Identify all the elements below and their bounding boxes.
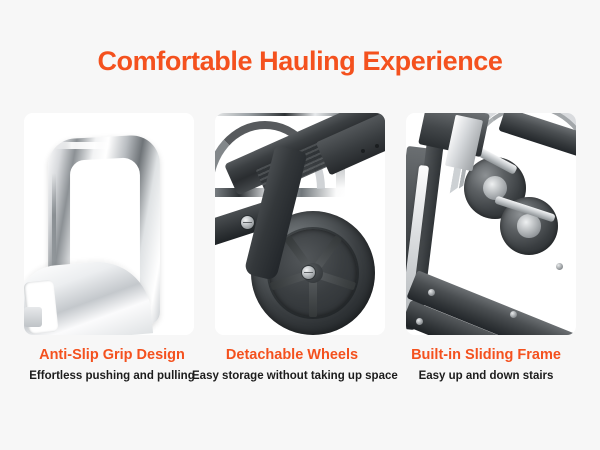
bracket-hole <box>361 149 365 153</box>
bracket-screw <box>241 216 254 229</box>
feature-subtitle: Effortless pushing and pulling <box>24 369 200 384</box>
bracket-hole <box>375 144 379 148</box>
feature-card-anti-slip-grip <box>24 113 194 335</box>
feature-card-sliding-frame <box>406 113 576 335</box>
feature-caption-detachable-wheels: Detachable Wheels Easy storage without t… <box>192 346 392 384</box>
feature-card-detachable-wheels <box>215 113 385 335</box>
page-title: Comfortable Hauling Experience <box>0 44 600 78</box>
hub-screw <box>302 266 315 279</box>
feature-caption-sliding-frame: Built-in Sliding Frame Easy up and down … <box>396 346 576 384</box>
grip-end-tab <box>24 307 42 327</box>
feature-subtitle: Easy up and down stairs <box>396 369 576 384</box>
feature-subtitle: Easy storage without taking up space <box>192 369 392 384</box>
product-photo-sliding-frame <box>406 113 576 335</box>
feature-caption-list: Anti-Slip Grip Design Effortless pushing… <box>24 346 576 384</box>
feature-banner: Comfortable Hauling Experience <box>0 0 600 450</box>
frame-bolt <box>510 311 517 318</box>
frame-bolt <box>556 263 563 270</box>
product-photo-caster-wheel <box>215 113 385 335</box>
product-photo-grip-handle <box>24 113 194 335</box>
feature-card-list <box>24 113 576 335</box>
feature-title: Anti-Slip Grip Design <box>24 346 200 364</box>
frame-bolt <box>428 289 435 296</box>
feature-title: Detachable Wheels <box>192 346 392 364</box>
feature-caption-anti-slip-grip: Anti-Slip Grip Design Effortless pushing… <box>24 346 200 384</box>
stair-wheel-hub <box>483 176 508 201</box>
stair-wheel-hub <box>517 214 540 237</box>
feature-title: Built-in Sliding Frame <box>396 346 576 364</box>
grip-highlight <box>54 142 112 149</box>
frame-bolt <box>416 318 423 325</box>
